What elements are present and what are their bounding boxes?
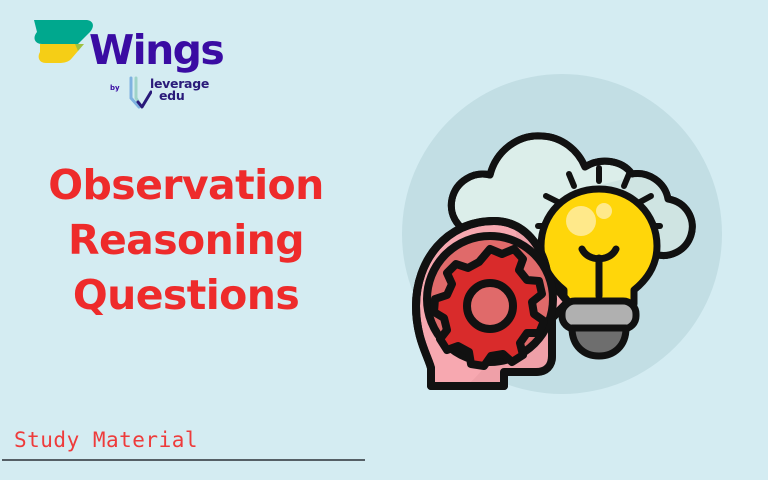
brand-logo[interactable]: Wings by leverage edu [28, 14, 228, 114]
leverage-edu-checkmark-icon [128, 76, 152, 110]
page-title-line-2: Reasoning [0, 213, 372, 268]
footer-label: Study Material [14, 428, 198, 452]
thumbnail-canvas: Wings by leverage edu Observation Reason… [0, 0, 768, 480]
footer-divider [2, 459, 365, 461]
gear-icon [427, 236, 553, 366]
page-title-line-3: Questions [0, 268, 372, 323]
brand-sub-line2: edu [150, 90, 209, 102]
head-gear-lightbulb-cloud-illustration [386, 56, 726, 412]
brand-wordmark: Wings [89, 30, 223, 71]
bulb-highlight-large [566, 206, 596, 236]
page-title: Observation Reasoning Questions [0, 158, 372, 323]
brand-sub-wordmark: leverage edu [150, 78, 209, 102]
gear-center-hole [467, 283, 513, 329]
brand-sub-logo: by leverage edu [110, 76, 230, 110]
bulb-tip [572, 328, 626, 356]
brand-by-label: by [110, 84, 120, 92]
footer: Study Material [0, 426, 380, 480]
page-title-line-1: Observation [0, 158, 372, 213]
bulb-highlight-small [596, 203, 612, 219]
